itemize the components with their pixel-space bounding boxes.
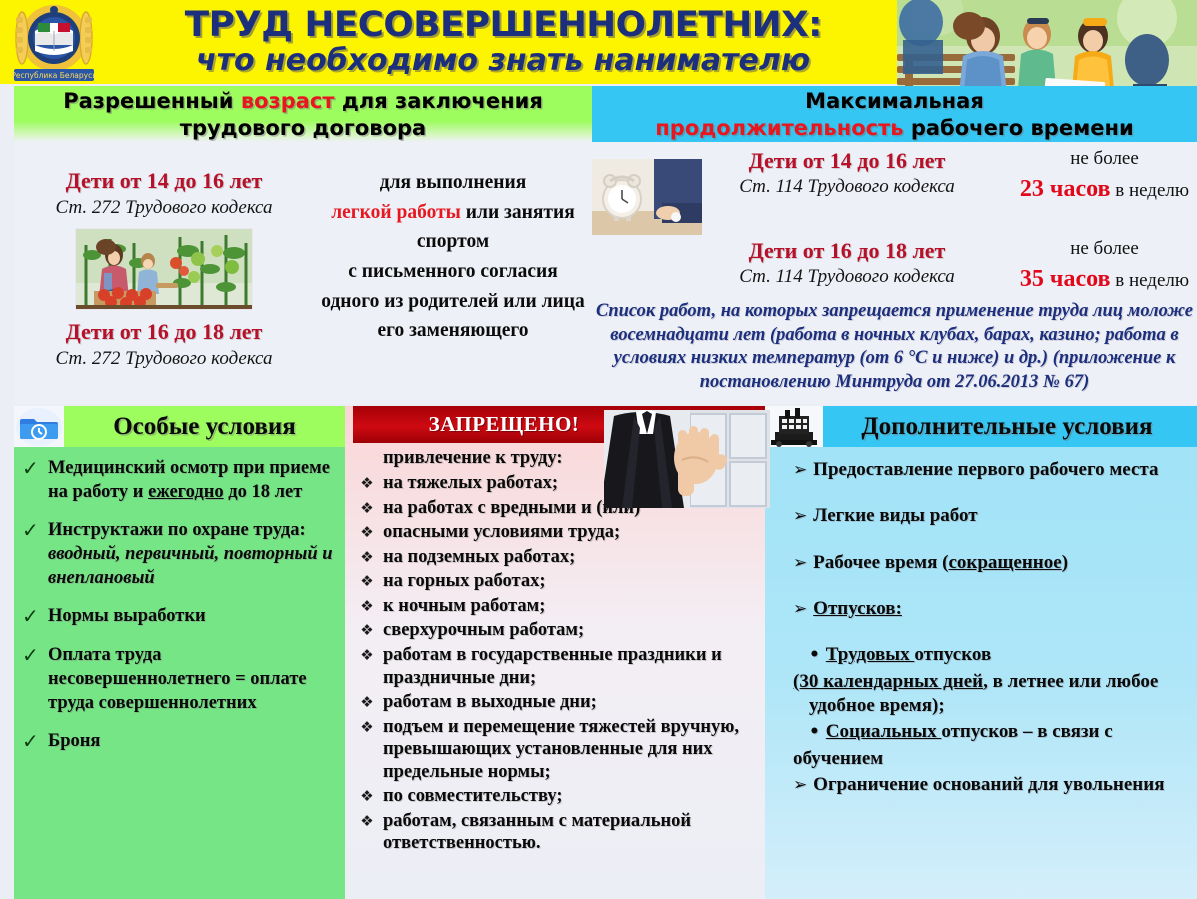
diamond-bullet-icon: ❖ (351, 785, 383, 808)
diamond-bullet-icon: ❖ (351, 810, 383, 833)
forbidden-works-note: Список работ, на которых запрещается при… (592, 300, 1197, 395)
special-condition-item: ✓Оплата труда несовершеннолетнего = опла… (22, 643, 339, 715)
allowed-age-title-line1: Разрешенный возраст для заключения (14, 88, 592, 115)
special-condition-item: ✓Броня (22, 729, 339, 754)
extra-condition-item: ➢ Предоставление первого рабочего места (793, 458, 1189, 482)
title-part-a: Разрешенный (63, 89, 241, 113)
arrow-bullet-icon: ➢ (793, 506, 813, 526)
diamond-bullet-icon: ❖ (351, 644, 383, 667)
arrow-bullet-icon: ➢ (793, 599, 813, 619)
age-group-2-title: Дети от 16 до 18 лет (14, 319, 314, 345)
extra-condition-continuation: (30 календарных дней, в летнее или любое… (793, 670, 1189, 719)
forbidden-item-text: сверхурочным работам; (383, 619, 765, 642)
extra-condition-item: ➢ Ограничение оснований для увольнения (793, 773, 1189, 797)
forbidden-item-text: к ночным работам; (383, 595, 765, 618)
special-conditions-header: Особые условия (14, 406, 345, 447)
max-hours-panel: Максимальная продолжительность рабочего … (592, 86, 1197, 404)
forbidden-item: ❖к ночным работам; (351, 595, 765, 618)
extra-condition-item: ➢ Легкие виды работ (793, 504, 1189, 528)
special-conditions-title: Особые условия (64, 413, 345, 441)
diamond-bullet-icon: ❖ (351, 595, 383, 618)
emblem-caption: Республика Беларусь (11, 71, 96, 80)
page-title: ТРУД НЕСОВЕРШЕННОЛЕТНИХ: (184, 8, 821, 44)
hours-row-2-value: 35 часов (1020, 266, 1111, 292)
check-icon: ✓ (22, 518, 48, 590)
diamond-bullet-icon: ❖ (351, 716, 383, 739)
hours-row-1-label: не более (1012, 148, 1197, 170)
hours-title-rest: рабочего времени (904, 116, 1134, 140)
diamond-bullet-icon: ❖ (351, 497, 383, 520)
special-condition-text: Инструктажи по охране труда: вводный, пе… (48, 518, 339, 590)
allowed-age-body: Дети от 14 до 16 лет Ст. 272 Трудового к… (14, 142, 592, 404)
extra-conditions-panel: Дополнительные условия ➢ Предоставление … (765, 406, 1197, 899)
hours-row-2-value-wrap: 35 часов в неделю (1012, 266, 1197, 293)
age-group-1-article: Ст. 272 Трудового кодекса (14, 197, 314, 219)
extra-conditions-list: ➢ Предоставление первого рабочего места➢… (765, 458, 1197, 819)
check-icon: ✓ (22, 729, 48, 754)
title-part-c: для заключения (335, 89, 543, 113)
allowed-age-header: Разрешенный возраст для заключения трудо… (14, 86, 592, 142)
purpose-line-5: одного из родителей или лица (314, 287, 592, 317)
forbidden-panel: ЗАПРЕЩЕНО! (345, 406, 765, 899)
dot-bullet-icon: • (809, 722, 826, 742)
arrow-bullet-icon: ➢ (793, 775, 813, 795)
purpose-line-1: для выполнения (314, 168, 592, 198)
folder-clock-icon (14, 406, 64, 447)
age-groups-column: Дети от 14 до 16 лет Ст. 272 Трудового к… (14, 142, 314, 404)
hours-row-2-label: не более (1012, 238, 1197, 260)
forbidden-list: ❖на тяжелых работах;❖на работах с вредны… (351, 472, 765, 857)
belarus-emblem-icon: Республика Беларусь (2, 1, 106, 83)
hours-row-2-title: Дети от 16 до 18 лет (682, 238, 1012, 264)
forbidden-item: ❖на подземных работах; (351, 546, 765, 569)
extra-condition-continuation: обучением (793, 747, 1189, 771)
hours-row-2-article: Ст. 114 Трудового кодекса (682, 266, 1012, 288)
forbidden-item-text: работам, связанным с материальной ответс… (383, 810, 765, 855)
forbidden-item-text: подъем и перемещение тяжестей вручную, п… (383, 716, 765, 784)
age-group-2-article: Ст. 272 Трудового кодекса (14, 348, 314, 370)
age-group-1-title: Дети от 14 до 16 лет (14, 168, 314, 194)
forbidden-item: ❖по совместительству; (351, 785, 765, 808)
check-icon: ✓ (22, 604, 48, 629)
poster-root: Республика Беларусь ТРУД НЕСОВЕРШЕННОЛЕТ… (0, 0, 1197, 899)
check-icon: ✓ (22, 643, 48, 715)
diamond-bullet-icon: ❖ (351, 570, 383, 593)
diamond-bullet-icon: ❖ (351, 619, 383, 642)
hours-row-2-period: в неделю (1110, 270, 1189, 291)
forbidden-item-text: на подземных работах; (383, 546, 765, 569)
diamond-bullet-icon: ❖ (351, 521, 383, 544)
purpose-line-3: спортом (314, 227, 592, 257)
diamond-bullet-icon: ❖ (351, 691, 383, 714)
extra-conditions-title: Дополнительные условия (823, 413, 1197, 441)
special-condition-item: ✓Нормы выработки (22, 604, 339, 629)
special-condition-item: ✓Инструктажи по охране труда: вводный, п… (22, 518, 339, 590)
purpose-line-4: с письменного согласия (314, 257, 592, 287)
special-conditions-list: ✓Медицинский осмотр при приеме на работу… (14, 456, 345, 768)
businessman-stop-hand-photo (604, 410, 770, 508)
header-title-block: ТРУД НЕСОВЕРШЕННОЛЕТНИХ: что необходимо … (108, 2, 898, 82)
hours-row-1-right: не более 23 часов в неделю (1012, 148, 1197, 203)
poster-header: Республика Беларусь ТРУД НЕСОВЕРШЕННОЛЕТ… (0, 0, 1197, 84)
forbidden-item-text: опасными условиями труда; (383, 521, 765, 544)
title-part-highlight: возраст (241, 89, 335, 113)
forbidden-item: ❖работам в государственные праздники и п… (351, 644, 765, 689)
allowed-age-panel: Разрешенный возраст для заключения трудо… (14, 86, 592, 404)
special-condition-item: ✓Медицинский осмотр при приеме на работу… (22, 456, 339, 504)
purpose-line-2: легкой работы или занятия (314, 198, 592, 228)
allowed-age-title-line2: трудового договора (14, 115, 592, 142)
max-hours-header: Максимальная продолжительность рабочего … (592, 86, 1197, 142)
hours-row-1-article: Ст. 114 Трудового кодекса (682, 176, 1012, 198)
forbidden-item-text: по совместительству; (383, 785, 765, 808)
purpose-line-6: его заменяющего (314, 316, 592, 346)
forbidden-item: ❖на горных работах; (351, 570, 765, 593)
arrow-bullet-icon: ➢ (793, 553, 813, 573)
dot-bullet-icon: • (809, 645, 826, 665)
hours-row-1-title: Дети от 14 до 16 лет (682, 148, 1012, 174)
special-condition-text: Оплата труда несовершеннолетнего = оплат… (48, 643, 339, 715)
max-hours-title-line2: продолжительность рабочего времени (592, 115, 1197, 142)
hours-row-1-value: 23 часов (1020, 176, 1111, 202)
hours-row-2-right: не более 35 часов в неделю (1012, 238, 1197, 293)
forbidden-item-text: работам в государственные праздники и пр… (383, 644, 765, 689)
special-conditions-panel: Особые условия ✓Медицинский осмотр при п… (14, 406, 345, 899)
arrow-bullet-icon: ➢ (793, 460, 813, 480)
hours-title-highlight: продолжительность (655, 116, 903, 140)
special-condition-text: Медицинский осмотр при приеме на работу … (48, 456, 339, 504)
extra-condition-subitem: • Социальных отпусков – в связи с (793, 720, 1189, 744)
hours-row-1-left: Дети от 14 до 16 лет Ст. 114 Трудового к… (682, 148, 1012, 198)
greenhouse-tomatoes-photo (75, 228, 253, 310)
forbidden-item-text: на горных работах; (383, 570, 765, 593)
diamond-bullet-icon: ❖ (351, 546, 383, 569)
purpose-highlight: легкой работы (331, 202, 461, 223)
extra-condition-item: ➢ Рабочее время (сокращенное) (793, 551, 1189, 575)
special-condition-text: Нормы выработки (48, 604, 339, 629)
forbidden-item-text: работам в выходные дни; (383, 691, 765, 714)
extra-conditions-header: Дополнительные условия (765, 406, 1197, 447)
extra-condition-item: ➢ Отпусков: (793, 597, 1189, 621)
hours-row-1-period: в неделю (1110, 180, 1189, 201)
diamond-bullet-icon: ❖ (351, 472, 383, 495)
forbidden-item: ❖опасными условиями труда; (351, 521, 765, 544)
forbidden-item: ❖работам, связанным с материальной ответ… (351, 810, 765, 855)
hours-row-2-left: Дети от 16 до 18 лет Ст. 114 Трудового к… (682, 238, 1012, 288)
forbidden-item: ❖подъем и перемещение тяжестей вручную, … (351, 716, 765, 784)
forbidden-item: ❖работам в выходные дни; (351, 691, 765, 714)
hours-row-1-value-wrap: 23 часов в неделю (1012, 176, 1197, 203)
special-condition-text: Броня (48, 729, 339, 754)
forbidden-item: ❖сверхурочным работам; (351, 619, 765, 642)
page-subtitle: что необходимо знать нанимателю (196, 45, 810, 77)
extra-condition-subitem: • Трудовых отпусков (793, 643, 1189, 667)
check-icon: ✓ (22, 456, 48, 504)
age-purpose-text: для выполнения легкой работы или занятия… (314, 168, 592, 346)
max-hours-title-line1: Максимальная (592, 88, 1197, 115)
factory-building-icon (765, 406, 823, 447)
